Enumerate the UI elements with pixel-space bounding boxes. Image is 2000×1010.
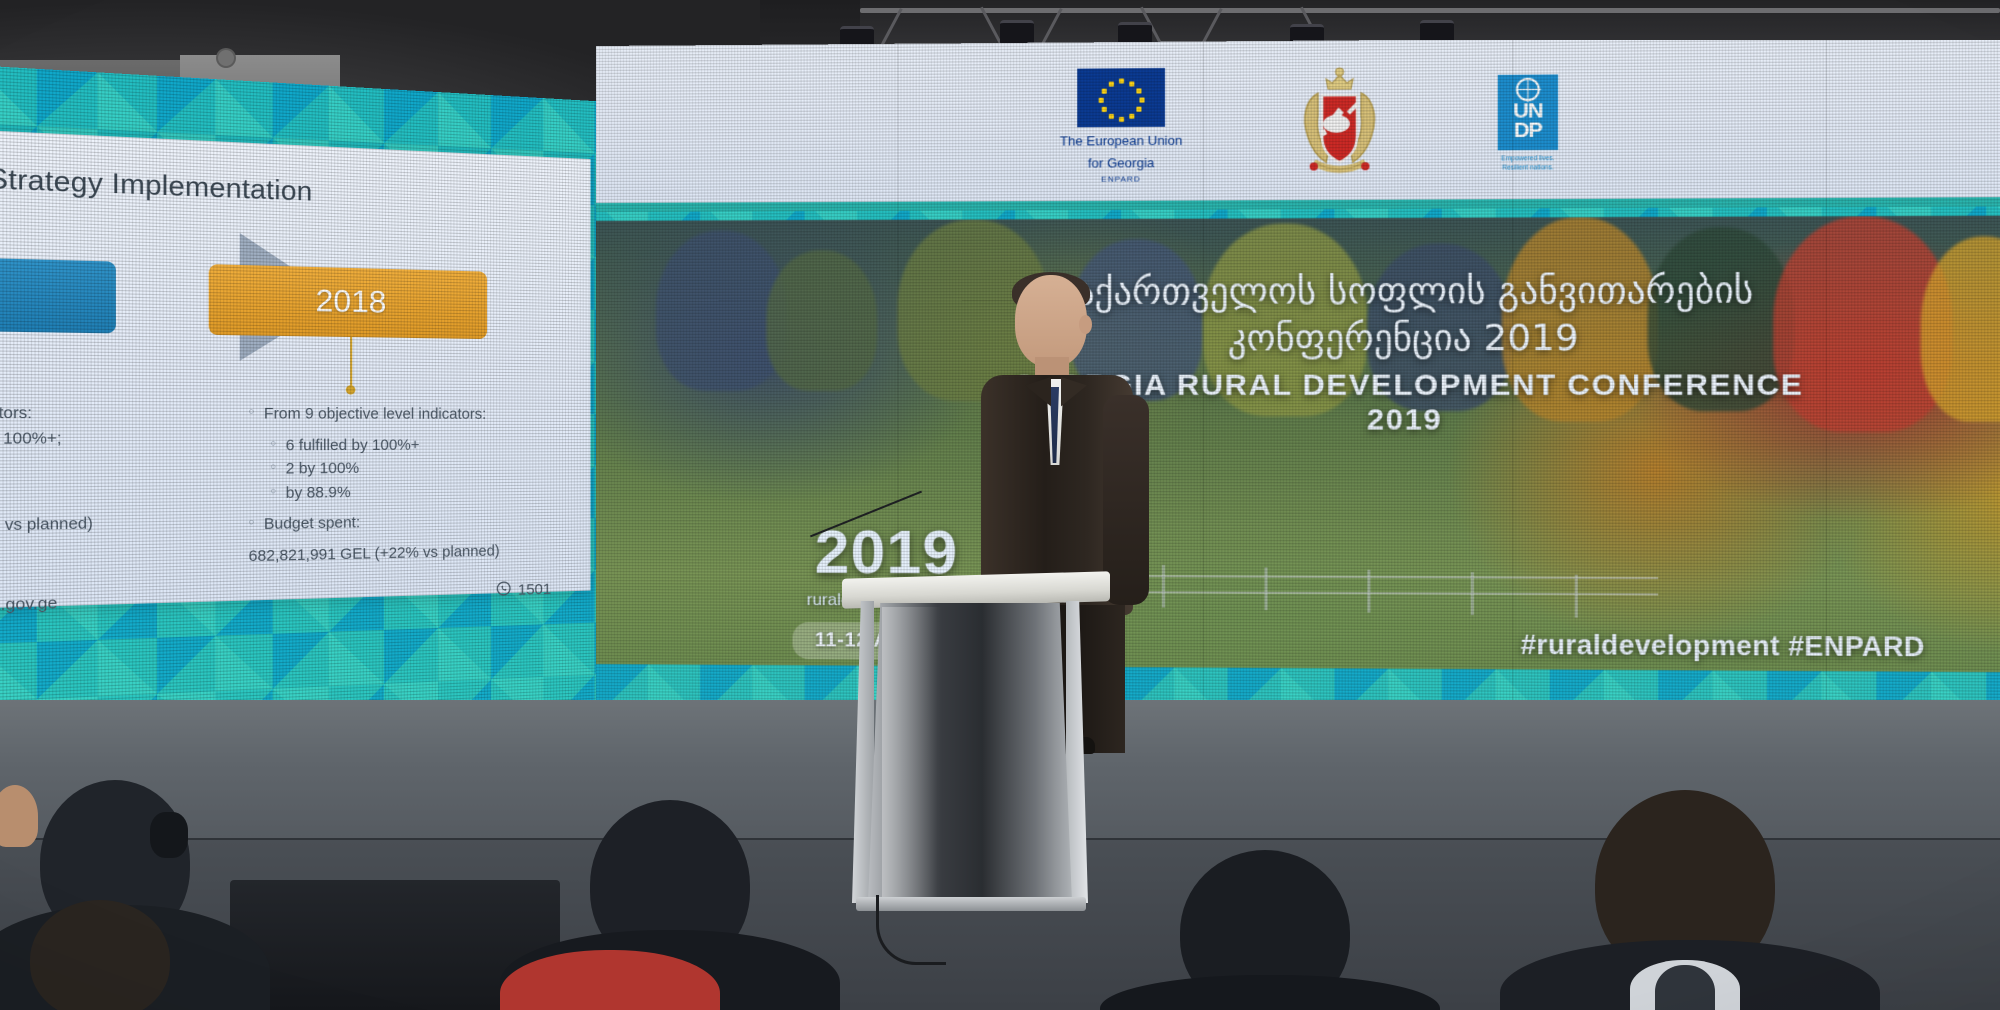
list-item: d by 100% or 100%+; bbox=[0, 429, 240, 451]
budget-label: Budget spent: bbox=[249, 511, 558, 536]
list-item: by 88.9% bbox=[249, 481, 558, 505]
podium bbox=[852, 575, 1102, 930]
conference-scene: ults of the Strategy Implementation 2017… bbox=[0, 0, 2000, 1010]
eu-flag-logo: The European Union for Georgia ENPARD bbox=[1060, 68, 1183, 184]
slide-title: ults of the Strategy Implementation bbox=[0, 155, 565, 217]
fence-post bbox=[1575, 575, 1578, 618]
eu-logo-line1: The European Union bbox=[1060, 133, 1183, 149]
list-item: d partially; bbox=[0, 453, 240, 477]
budget-value: 682,821,991 GEL (+22% vs planned) bbox=[249, 541, 558, 568]
led-wall-left-panel: ults of the Strategy Implementation 2017… bbox=[0, 62, 610, 730]
year-comparison-bars: 2017 2018 bbox=[0, 231, 565, 393]
year-bar-2017: 2017 bbox=[0, 253, 116, 334]
website-label: www.mepa.gov.ge bbox=[0, 594, 57, 617]
list-item-budget: GEL (+38.3% vs planned) bbox=[0, 513, 240, 540]
eu-logo-line2: for Georgia bbox=[1060, 154, 1183, 170]
fence-post bbox=[1264, 567, 1267, 610]
undp-caption: Empowered lives.Resilient nations. bbox=[1498, 155, 1558, 173]
slide-column-right: From 9 objective level indicators: 6 ful… bbox=[249, 401, 565, 571]
undp-globe-icon bbox=[1516, 77, 1540, 101]
podium-reflection bbox=[882, 607, 942, 897]
led-panel-seam bbox=[1203, 41, 1204, 730]
slide-columns: level indicators: d by 100% or 100%+; d … bbox=[0, 400, 565, 580]
phone-icon bbox=[496, 581, 511, 601]
autumn-landscape-photo: საქართველოს სოფლის განვითარების კონფერენ… bbox=[596, 216, 2000, 680]
connector-line-2018 bbox=[350, 337, 352, 387]
fence-post bbox=[1162, 565, 1165, 608]
audience-head bbox=[30, 900, 170, 1010]
banner-logo-strip: The European Union for Georgia ENPARD bbox=[596, 40, 2000, 212]
conference-hashtags: #ruraldevelopment #ENPARD bbox=[1520, 630, 1924, 664]
georgia-coat-of-arms-logo bbox=[1283, 64, 1396, 185]
list-item: lled. bbox=[0, 477, 240, 502]
list-item: level indicators: bbox=[0, 403, 240, 425]
undp-logo: UNDP Empowered lives.Resilient nations. bbox=[1498, 74, 1558, 173]
hotline: 1501 bbox=[496, 580, 551, 601]
year-bar-2018: 2018 bbox=[209, 264, 487, 339]
fence-post bbox=[1471, 572, 1474, 615]
strategy-implementation-slide: ults of the Strategy Implementation 2017… bbox=[0, 124, 591, 611]
audience-collar-shadow bbox=[1655, 965, 1715, 1010]
truss-bar-top bbox=[860, 8, 2000, 13]
eu-logo-line3: ENPARD bbox=[1060, 174, 1183, 184]
audience-headset-icon bbox=[150, 812, 188, 858]
speaker-head bbox=[1015, 275, 1087, 367]
list-item: 6 fulfilled by 100%+ bbox=[249, 436, 558, 457]
year-bar-2018-label: 2018 bbox=[316, 284, 387, 321]
eu-flag-icon bbox=[1077, 68, 1165, 127]
slide-column-left: level indicators: d by 100% or 100%+; d … bbox=[0, 400, 249, 580]
led-panel-seam bbox=[1512, 40, 1513, 730]
speaker-ear bbox=[1079, 315, 1092, 334]
undp-icon: UNDP bbox=[1498, 74, 1558, 150]
led-wall-right-panel: The European Union for Georgia ENPARD bbox=[596, 40, 2000, 730]
eu-stars bbox=[1077, 68, 1165, 127]
list-item-heading: From 9 objective level indicators: bbox=[249, 405, 558, 426]
led-panel-seam bbox=[1826, 40, 1827, 730]
fence-post bbox=[1367, 570, 1370, 613]
hotline-number: 1501 bbox=[518, 581, 551, 599]
connector-dot-2018 bbox=[346, 385, 356, 394]
list-item: 2 by 100% bbox=[249, 458, 558, 481]
